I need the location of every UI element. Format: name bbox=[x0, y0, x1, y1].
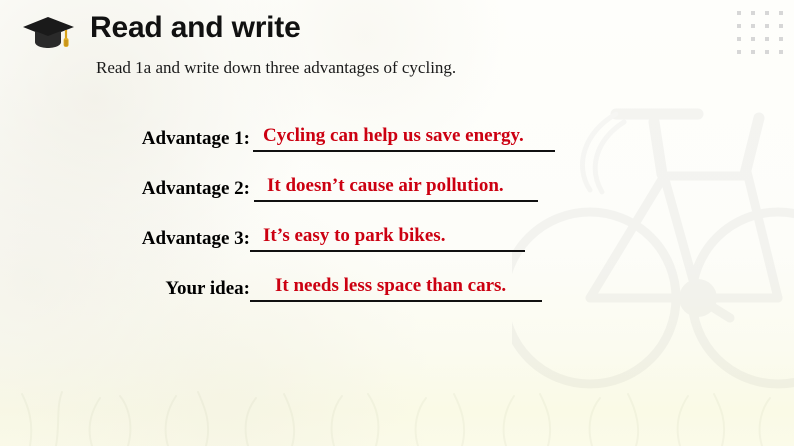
dot bbox=[751, 37, 755, 41]
dot bbox=[765, 50, 769, 54]
answer-text-4: It needs less space than cars. bbox=[254, 274, 538, 297]
answer-label-1: Advantage 1: bbox=[0, 124, 250, 151]
dot bbox=[765, 24, 769, 28]
answer-row: Advantage 1: Cycling can help us save en… bbox=[0, 124, 794, 174]
dot bbox=[779, 24, 783, 28]
dot bbox=[737, 50, 741, 54]
answer-field-1[interactable]: Cycling can help us save energy. bbox=[253, 124, 555, 152]
graduation-cap-icon bbox=[22, 13, 76, 51]
dot bbox=[737, 24, 741, 28]
dot bbox=[779, 50, 783, 54]
dot bbox=[737, 11, 741, 15]
dot-grid-icon bbox=[737, 11, 783, 54]
answer-label-4: Your idea: bbox=[0, 274, 250, 301]
answer-label-3: Advantage 3: bbox=[0, 224, 250, 251]
answer-text-2: It doesn’t cause air pollution. bbox=[258, 174, 534, 197]
answer-field-3[interactable]: It’s easy to park bikes. bbox=[250, 224, 525, 252]
answer-row: Your idea: It needs less space than cars… bbox=[0, 274, 794, 324]
dot bbox=[737, 37, 741, 41]
answer-row: Advantage 2: It doesn’t cause air pollut… bbox=[0, 174, 794, 224]
slide-header: Read and write Read 1a and write down th… bbox=[0, 0, 794, 92]
dot bbox=[779, 11, 783, 15]
dot bbox=[751, 50, 755, 54]
answer-label-2: Advantage 2: bbox=[0, 174, 250, 201]
dot bbox=[765, 37, 769, 41]
dot bbox=[751, 11, 755, 15]
slide-canvas: Read and write Read 1a and write down th… bbox=[0, 0, 794, 446]
dot bbox=[751, 24, 755, 28]
answers-list: Advantage 1: Cycling can help us save en… bbox=[0, 124, 794, 324]
grass-watermark bbox=[0, 376, 794, 446]
answer-field-4[interactable]: It needs less space than cars. bbox=[250, 274, 542, 302]
page-title: Read and write bbox=[90, 9, 301, 47]
dot bbox=[779, 37, 783, 41]
page-subtitle: Read 1a and write down three advantages … bbox=[96, 57, 456, 79]
answer-field-2[interactable]: It doesn’t cause air pollution. bbox=[254, 174, 538, 202]
answer-text-3: It’s easy to park bikes. bbox=[254, 224, 521, 247]
dot bbox=[765, 11, 769, 15]
answer-row: Advantage 3: It’s easy to park bikes. bbox=[0, 224, 794, 274]
answer-text-1: Cycling can help us save energy. bbox=[257, 124, 551, 147]
